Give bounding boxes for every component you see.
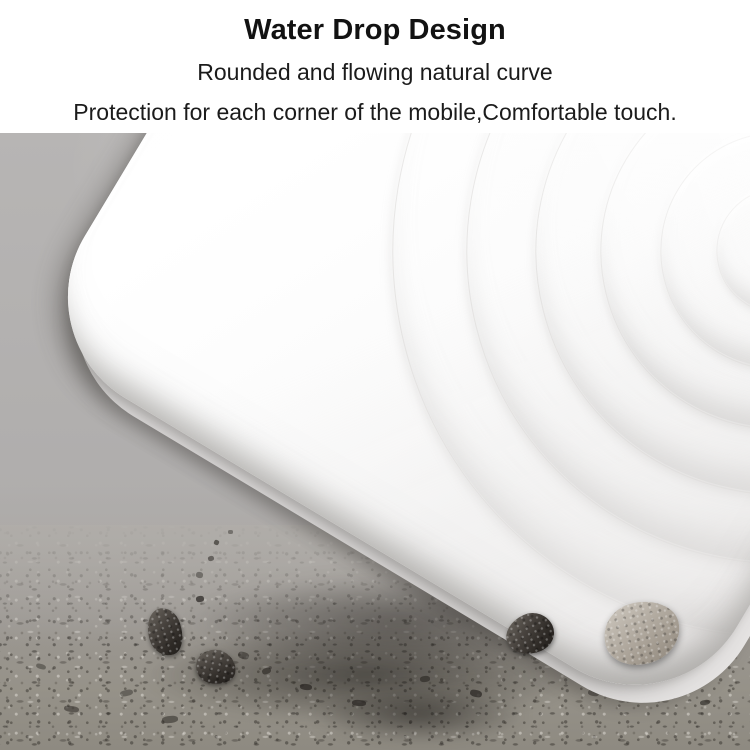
subtitle-line-2: Protection for each corner of the mobile… <box>0 97 750 127</box>
pebble-dark-right <box>500 606 560 662</box>
pebble-dark-right-speckle <box>500 606 560 662</box>
header-text-band: Water Drop Design Rounded and flowing na… <box>0 0 750 133</box>
pebble-grey-large-speckle <box>598 595 685 671</box>
pebble-dark-lower-speckle <box>193 646 239 688</box>
pebble-dark-upper-speckle <box>141 604 188 660</box>
pebble-grey-large <box>598 595 685 671</box>
pebble-dark-lower <box>193 646 239 688</box>
subtitle-line-1: Rounded and flowing natural curve <box>0 57 750 87</box>
pebble-dark-upper <box>141 604 188 660</box>
page-title: Water Drop Design <box>0 12 750 48</box>
product-photo-scene <box>0 133 750 750</box>
product-banner: Water Drop Design Rounded and flowing na… <box>0 0 750 750</box>
pebble-layer <box>0 133 750 750</box>
